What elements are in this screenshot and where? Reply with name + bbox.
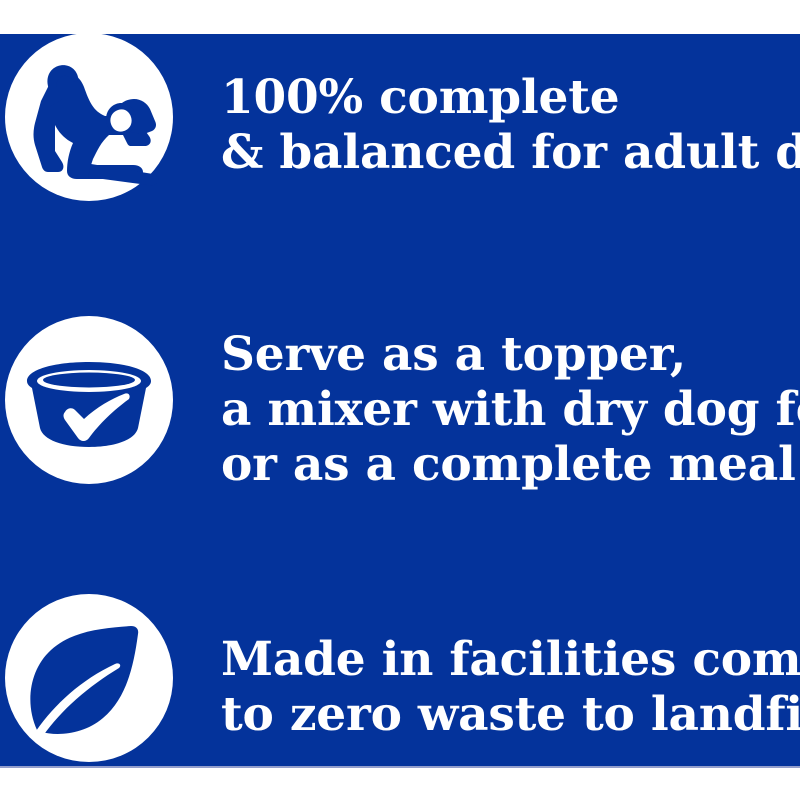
playful-dog-icon (5, 33, 173, 201)
benefit-text-complete-balanced: 100% complete & balanced for adult dogs (221, 70, 800, 180)
leaf-icon (5, 594, 173, 762)
dog-bowl-check-icon (5, 316, 173, 484)
benefit-line: a mixer with dry dog food, (221, 382, 800, 437)
dog-bowl-check-icon-badge (5, 316, 173, 484)
leaf-icon-badge (5, 594, 173, 762)
panel-bottom-divider (0, 766, 800, 768)
benefit-line: Made in facilities committed (221, 632, 800, 687)
benefit-line: 100% complete (221, 70, 800, 125)
playful-dog-icon-badge (5, 33, 173, 201)
benefit-line: to zero waste to landfill (221, 687, 800, 742)
benefit-line: Serve as a topper, (221, 327, 800, 382)
benefit-text-serving-options: Serve as a topper, a mixer with dry dog … (221, 327, 800, 492)
benefit-line: & balanced for adult dogs (221, 125, 800, 180)
benefit-line: or as a complete meal (221, 437, 800, 492)
benefit-text-zero-waste: Made in facilities committed to zero was… (221, 632, 800, 742)
benefits-panel-screenshot: 100% complete & balanced for adult dogs … (0, 0, 800, 800)
